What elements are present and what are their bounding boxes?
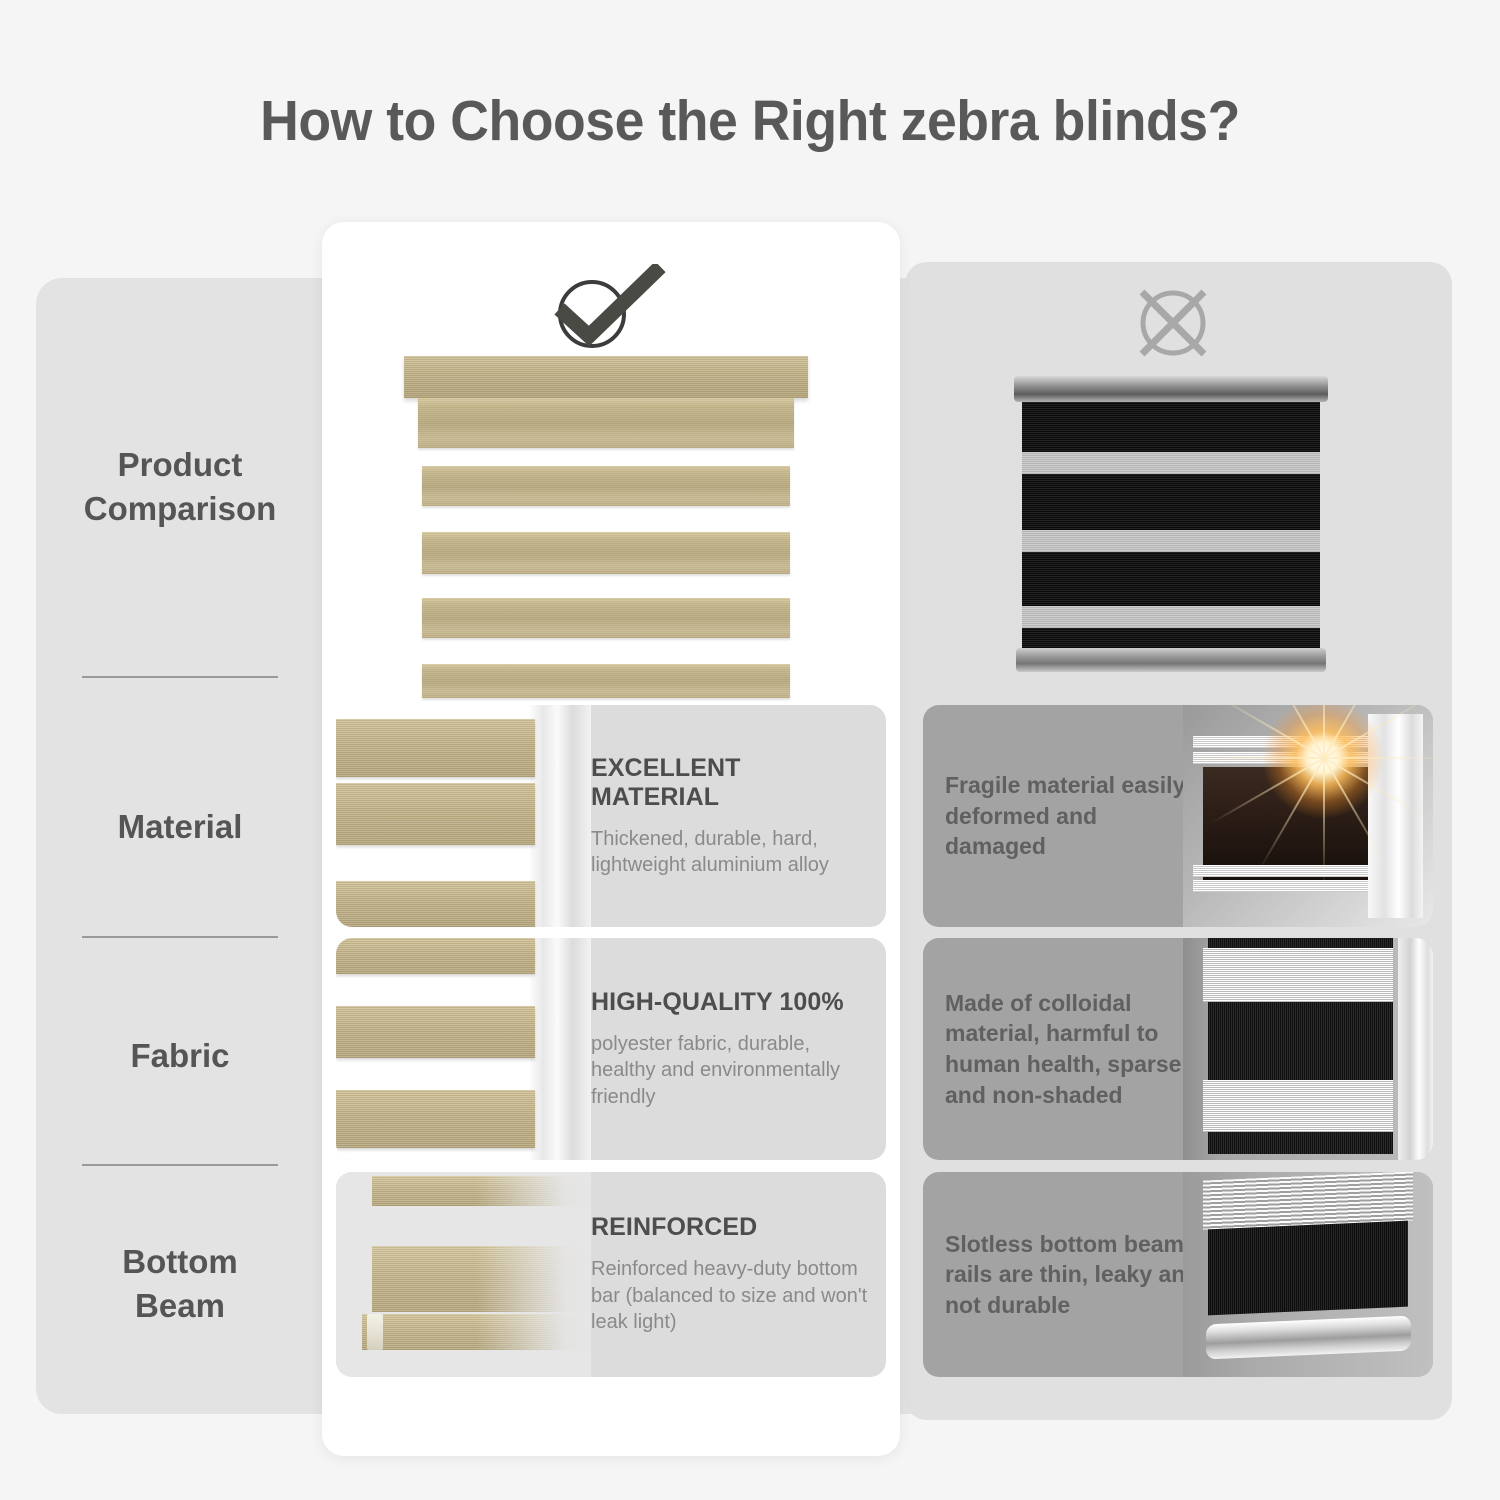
- good-feature-card-fabric: HIGH-QUALITY 100% polyester fabric, dura…: [336, 938, 886, 1160]
- bad-feature-text-material: Fragile material easily deformed and dam…: [945, 705, 1200, 927]
- feature-description: Thickened, durable, hard, lightweight al…: [591, 826, 870, 879]
- row-divider: [82, 1164, 278, 1166]
- blind-band: [336, 783, 535, 845]
- feature-description: polyester fabric, durable, healthy and e…: [591, 1031, 870, 1110]
- bad-feature-card-bottom-beam: Slotless bottom beam rails are thin, lea…: [923, 1172, 1433, 1377]
- row-divider: [82, 676, 278, 678]
- blind-headrail: [1014, 376, 1328, 402]
- window-frame: [1398, 938, 1433, 1160]
- row-label-column: Product Comparison Material Fabric Botto…: [36, 278, 324, 1414]
- good-feature-card-bottom-beam: REINFORCED Reinforced heavy-duty bottom …: [336, 1172, 886, 1377]
- bad-feature-card-fabric: Made of colloidal material, harmful to h…: [923, 938, 1433, 1160]
- blind-slat: [422, 532, 790, 574]
- blind-bottom-bar: [422, 664, 790, 698]
- blind-band: [336, 938, 535, 974]
- blind-band: [336, 1006, 535, 1058]
- blind-lamella: [1193, 865, 1383, 877]
- beige-blind-closeup-window-frame-image: [336, 705, 591, 927]
- black-fabric-band: [1208, 1132, 1393, 1154]
- beige-blind-fabric-stripes-image: [336, 938, 591, 1160]
- black-zebra-fabric: [1022, 398, 1320, 650]
- cross-circle-icon: [1118, 283, 1228, 363]
- check-circle-icon: [547, 264, 667, 354]
- bad-feature-text-fabric: Made of colloidal material, harmful to h…: [945, 938, 1200, 1160]
- row-label-fabric: Fabric: [36, 1034, 324, 1078]
- bottom-bar-end-cap: [367, 1314, 383, 1350]
- good-feature-text-bottom-beam: REINFORCED Reinforced heavy-duty bottom …: [591, 1172, 886, 1377]
- row-divider: [82, 936, 278, 938]
- feature-title: HIGH-QUALITY 100%: [591, 988, 870, 1017]
- good-hero-product-image: [404, 356, 808, 698]
- feature-description: Reinforced heavy-duty bottom bar (balanc…: [591, 1256, 870, 1335]
- blind-band: [336, 1090, 535, 1148]
- sun-flare-icon: [1263, 705, 1383, 818]
- good-feature-card-material: EXCELLENT MATERIAL Thickened, durable, h…: [336, 705, 886, 927]
- blind-lamella: [1193, 880, 1383, 892]
- blind-band: [336, 881, 535, 927]
- bad-feature-card-material: Fragile material easily deformed and dam…: [923, 705, 1433, 927]
- sheer-band: [1203, 1080, 1393, 1132]
- blind-bottom-rail: [1016, 648, 1326, 672]
- good-feature-text-material: EXCELLENT MATERIAL Thickened, durable, h…: [591, 705, 886, 927]
- row-label-material: Material: [36, 805, 324, 849]
- black-fabric-band: [1208, 1221, 1408, 1316]
- blind-band: [336, 719, 535, 777]
- row-label-bottom-beam: Bottom Beam: [36, 1240, 324, 1328]
- bad-feature-text-bottom-beam: Slotless bottom beam rails are thin, lea…: [945, 1172, 1200, 1377]
- thin-chrome-bottom-rail: [1206, 1315, 1411, 1359]
- black-fabric-band: [1208, 938, 1393, 948]
- thin-chrome-bottom-rail-image: [1183, 1172, 1433, 1377]
- beige-blind-reinforced-bottom-bar-image: [336, 1172, 591, 1377]
- page-title: How to Choose the Right zebra blinds?: [45, 88, 1455, 154]
- blind-valance: [404, 356, 808, 398]
- sheer-band: [1203, 948, 1393, 1002]
- image-fade-overlay: [476, 1172, 591, 1377]
- window-frame: [530, 938, 591, 1160]
- feature-title: REINFORCED: [591, 1213, 870, 1242]
- black-sparse-fabric-image: [1183, 938, 1433, 1160]
- feature-title: EXCELLENT MATERIAL: [591, 754, 870, 812]
- window-frame: [530, 705, 591, 927]
- good-feature-text-fabric: HIGH-QUALITY 100% polyester fabric, dura…: [591, 938, 886, 1160]
- black-fabric-band: [1208, 1002, 1393, 1080]
- row-label-product-comparison: Product Comparison: [36, 443, 324, 531]
- blind-light-leak-sun-flare-image: [1183, 705, 1433, 927]
- blind-slat: [422, 598, 790, 638]
- bad-hero-product-image: [1014, 376, 1328, 672]
- blind-slat: [418, 398, 794, 448]
- blind-slat: [422, 466, 790, 506]
